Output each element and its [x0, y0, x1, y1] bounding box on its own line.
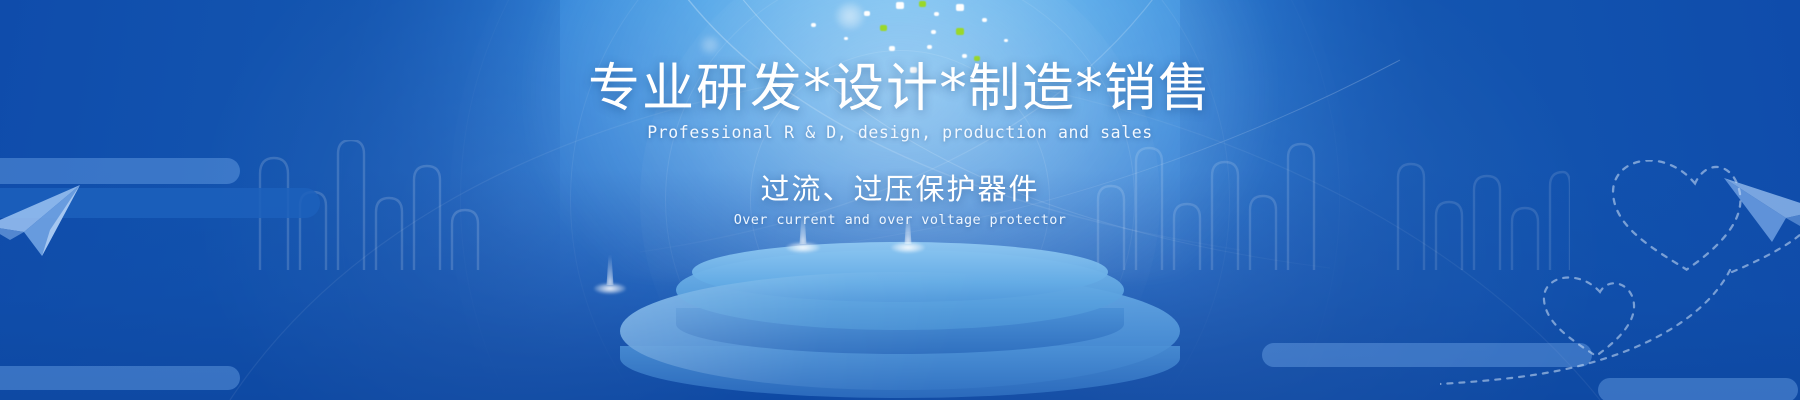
headline-english: Professional R & D, design, production a…	[0, 123, 1800, 142]
hero-banner: 专业研发*设计*制造*销售 Professional R & D, design…	[0, 0, 1800, 400]
headline-chinese: 专业研发*设计*制造*销售	[0, 62, 1800, 116]
subheadline-chinese: 过流、过压保护器件	[0, 166, 1800, 208]
banner-text-block: 专业研发*设计*制造*销售 Professional R & D, design…	[0, 0, 1800, 228]
cloud-bar-left-lower	[0, 366, 240, 392]
subheadline-english: Over current and over voltage protector	[0, 212, 1800, 228]
podium-light-beam-left	[595, 255, 625, 295]
